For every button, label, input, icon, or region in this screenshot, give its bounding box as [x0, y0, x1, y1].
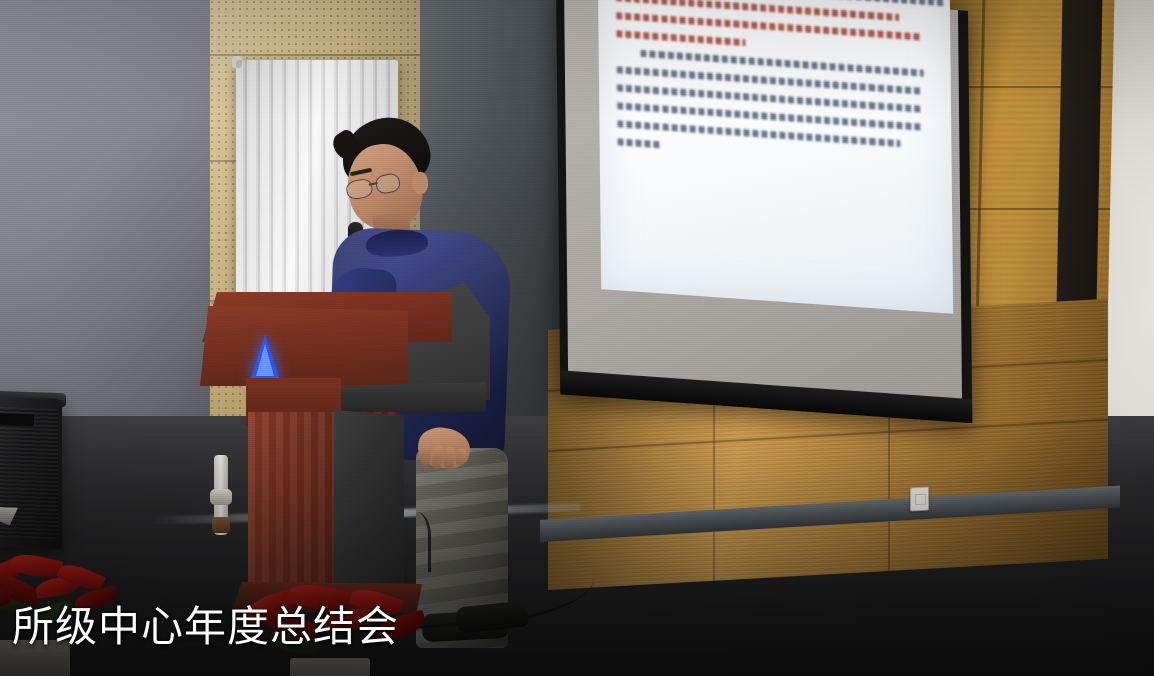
pa-speaker [0, 397, 62, 549]
panel-seam [210, 54, 432, 56]
slide-text-line-accent [616, 30, 745, 46]
podium-front-face [200, 306, 408, 386]
radiator-cap [232, 56, 242, 68]
slide-text-block [616, 0, 940, 179]
wall-outlet [910, 487, 929, 512]
video-caption: 所级中心年度总结会 [12, 606, 399, 648]
podium-lip [326, 382, 486, 416]
logo-triangle-inner [256, 344, 274, 376]
projection-screen [556, 0, 972, 423]
screenshot-frame: 所级中心年度总结会 [0, 0, 1154, 676]
slide-text-line [618, 138, 663, 148]
petal [8, 551, 63, 581]
projected-slide [598, 0, 953, 314]
speaker-handle [0, 413, 34, 426]
wood-seam [548, 419, 1108, 452]
flower-pot [290, 658, 370, 676]
